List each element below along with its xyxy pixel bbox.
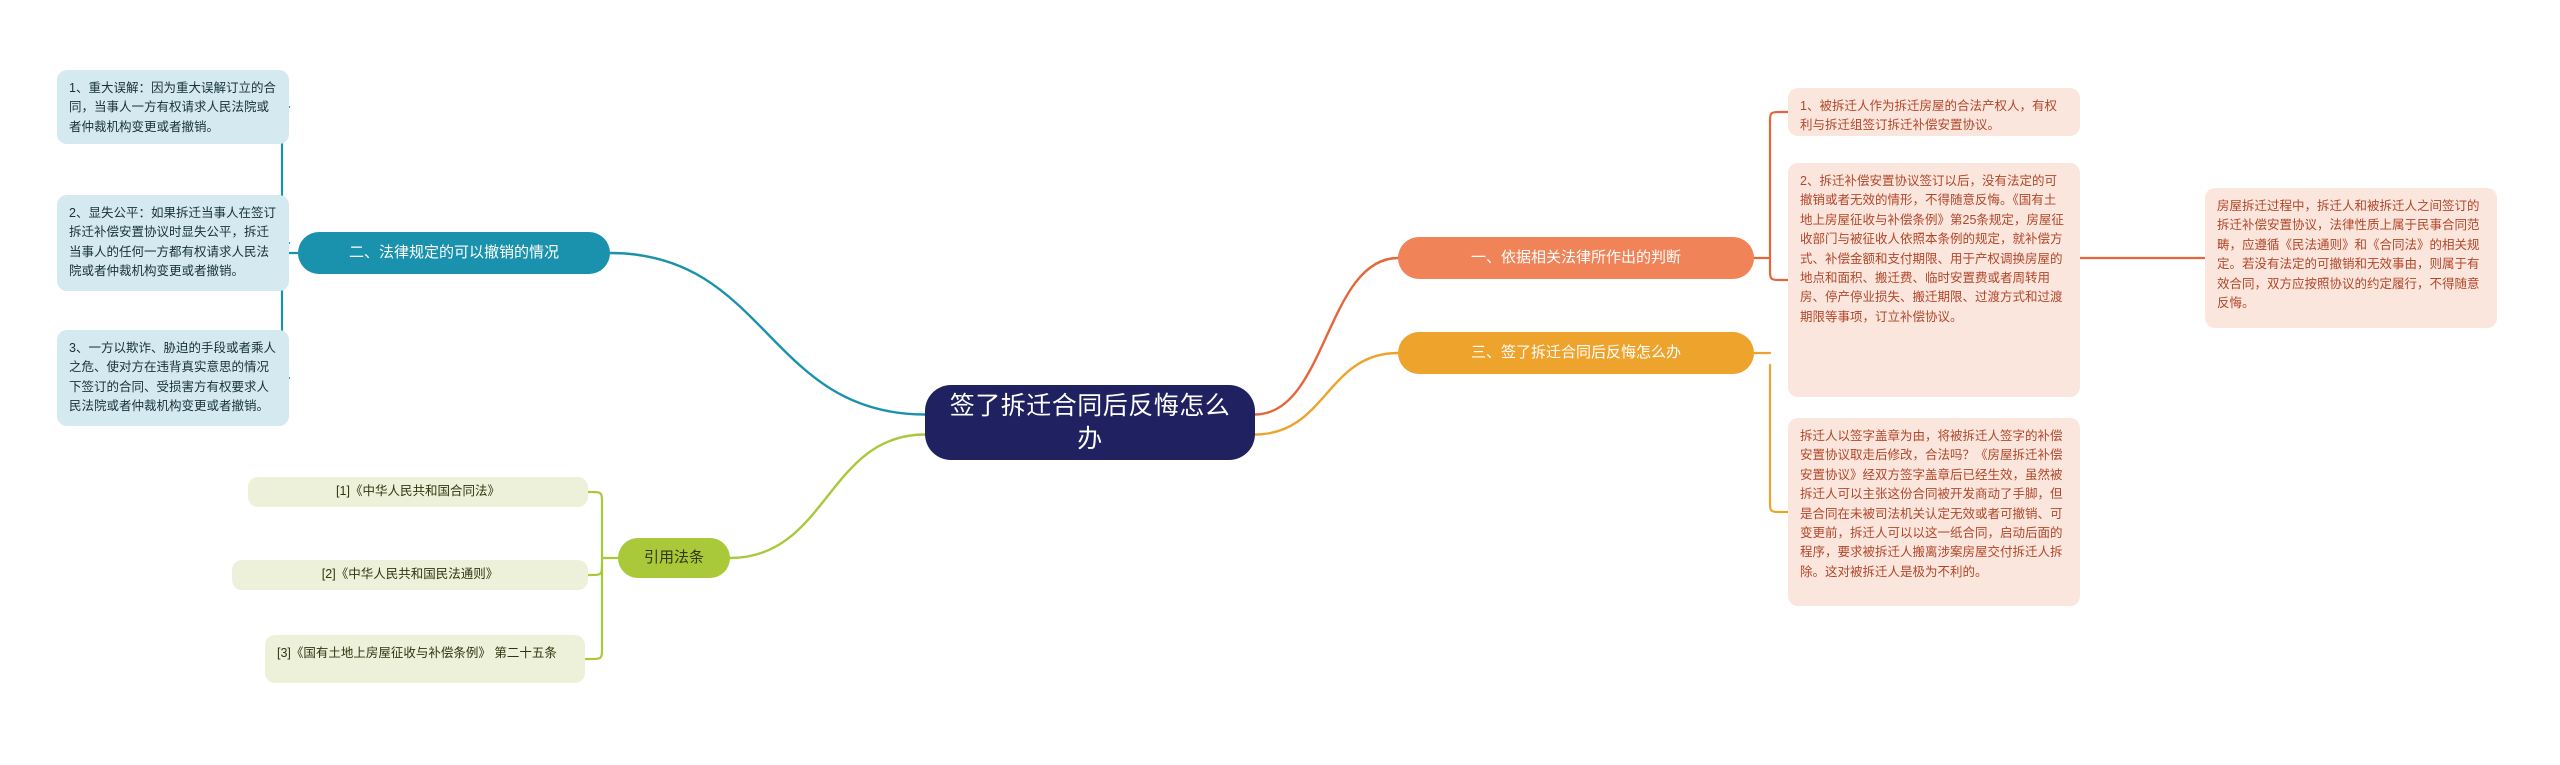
citation-item-3[interactable]: [3]《国有土地上房屋征收与补偿条例》 第二十五条 — [265, 635, 585, 683]
leaf-no-arbitrary-regret[interactable]: 2、拆迁补偿安置协议签订以后，没有法定的可撤销或者无效的情形，不得随意反悔。《国… — [1788, 163, 2080, 397]
leaf-text: 拆迁人以签字盖章为由，将被拆迁人签字的补偿安置协议取走后修改，合法吗？《房屋拆迁… — [1800, 429, 2063, 579]
leaf-manifest-unfairness[interactable]: 2、显失公平：如果拆迁当事人在签订拆迁补偿安置协议时显失公平，拆迁当事人的任何一… — [57, 195, 289, 291]
citation-text: [1]《中华人民共和国合同法》 — [336, 482, 500, 501]
leaf-signed-stamp-modification[interactable]: 拆迁人以签字盖章为由，将被拆迁人签字的补偿安置协议取走后修改，合法吗？《房屋拆迁… — [1788, 418, 2080, 606]
branch-citations-label: 引用法条 — [644, 548, 704, 568]
leaf-fraud-coercion[interactable]: 3、一方以欺诈、胁迫的手段或者乘人之危、使对方在违背真实意思的情况下签订的合同、… — [57, 330, 289, 426]
branch-regret[interactable]: 三、签了拆迁合同后反悔怎么办 — [1398, 332, 1754, 374]
citation-item-2[interactable]: [2]《中华人民共和国民法通则》 — [232, 560, 588, 590]
citation-text: [3]《国有土地上房屋征收与补偿条例》 第二十五条 — [277, 646, 557, 660]
citation-item-1[interactable]: [1]《中华人民共和国合同法》 — [248, 477, 588, 507]
citation-text: [2]《中华人民共和国民法通则》 — [322, 565, 498, 584]
leaf-text: 2、拆迁补偿安置协议签订以后，没有法定的可撤销或者无效的情形，不得随意反悔。《国… — [1800, 174, 2064, 324]
leaf-text: 2、显失公平：如果拆迁当事人在签订拆迁补偿安置协议时显失公平，拆迁当事人的任何一… — [69, 206, 276, 278]
leaf-text: 1、重大误解：因为重大误解订立的合同，当事人一方有权请求人民法院或者仲裁机构变更… — [69, 81, 276, 134]
branch-judgement-label: 一、依据相关法律所作出的判断 — [1471, 248, 1681, 268]
leaf-text: 1、被拆迁人作为拆迁房屋的合法产权人，有权利与拆迁组签订拆迁补偿安置协议。 — [1800, 99, 2057, 132]
branch-citations[interactable]: 引用法条 — [618, 538, 730, 578]
leaf-civil-contract-nature[interactable]: 房屋拆迁过程中，拆迁人和被拆迁人之间签订的拆迁补偿安置协议，法律性质上属于民事合… — [2205, 188, 2497, 328]
mindmap-canvas: 签了拆迁合同后反悔怎么办 二、法律规定的可以撤销的情况 1、重大误解：因为重大误… — [0, 0, 2560, 765]
branch-legal-revocation-label: 二、法律规定的可以撤销的情况 — [349, 243, 559, 263]
root-label: 签了拆迁合同后反悔怎么办 — [949, 390, 1231, 455]
leaf-major-misunderstanding[interactable]: 1、重大误解：因为重大误解订立的合同，当事人一方有权请求人民法院或者仲裁机构变更… — [57, 70, 289, 144]
leaf-text: 房屋拆迁过程中，拆迁人和被拆迁人之间签订的拆迁补偿安置协议，法律性质上属于民事合… — [2217, 199, 2480, 310]
leaf-legal-owner-right[interactable]: 1、被拆迁人作为拆迁房屋的合法产权人，有权利与拆迁组签订拆迁补偿安置协议。 — [1788, 88, 2080, 136]
root-node[interactable]: 签了拆迁合同后反悔怎么办 — [925, 385, 1255, 460]
branch-judgement[interactable]: 一、依据相关法律所作出的判断 — [1398, 237, 1754, 279]
leaf-text: 3、一方以欺诈、胁迫的手段或者乘人之危、使对方在违背真实意思的情况下签订的合同、… — [69, 341, 276, 413]
branch-legal-revocation[interactable]: 二、法律规定的可以撤销的情况 — [298, 232, 610, 274]
branch-regret-label: 三、签了拆迁合同后反悔怎么办 — [1471, 343, 1681, 363]
